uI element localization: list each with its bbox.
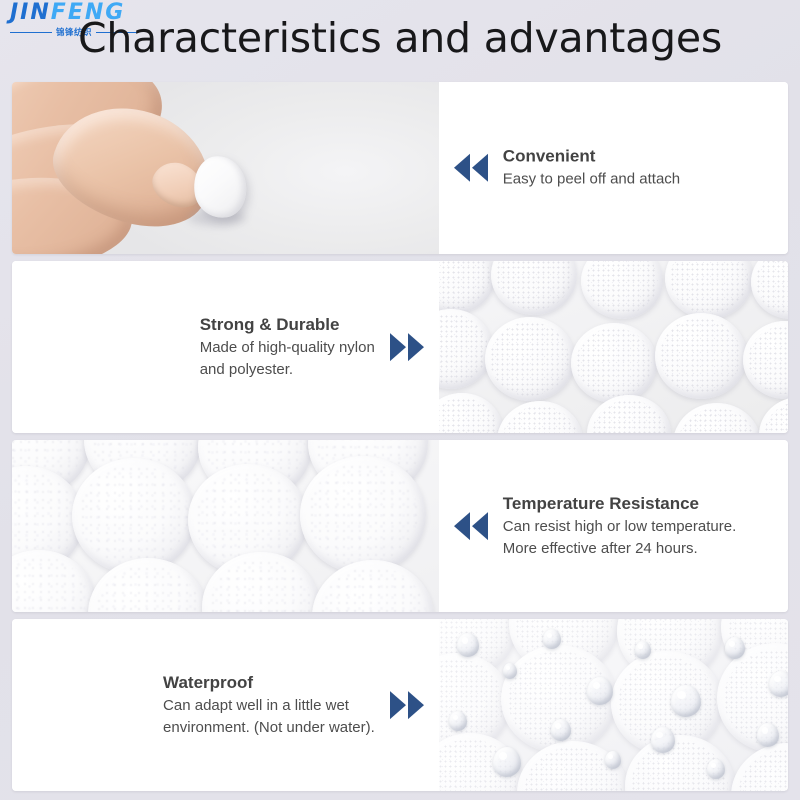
velcro-dot	[300, 456, 426, 574]
feature-image-waterproof	[439, 619, 788, 791]
feature-text-convenient: Convenient Easy to peel off and attach	[439, 82, 788, 254]
water-droplet	[587, 677, 613, 705]
feature-title: Strong & Durable	[200, 314, 375, 335]
double-chevron-right-icon	[389, 332, 425, 362]
water-droplet	[725, 637, 745, 659]
velcro-dot	[655, 313, 747, 399]
feature-description-line: Easy to peel off and attach	[503, 169, 680, 190]
feature-row-waterproof: Waterproof Can adapt well in a little we…	[12, 619, 788, 791]
water-droplet	[503, 663, 517, 679]
water-droplet	[543, 629, 561, 649]
feature-copy: Strong & Durable Made of high-quality ny…	[200, 314, 375, 380]
velcro-dot	[72, 458, 196, 574]
hand-peeling-velcro-dot-photo	[12, 82, 439, 254]
velcro-hook-dots-texture-photo	[439, 261, 788, 433]
feature-list: Convenient Easy to peel off and attach S…	[12, 82, 788, 798]
double-chevron-left-icon	[453, 153, 489, 183]
page-title: Characteristics and advantages	[0, 16, 800, 61]
water-droplet	[671, 685, 701, 717]
water-droplet	[551, 719, 571, 741]
feature-copy: Convenient Easy to peel off and attach	[503, 146, 680, 191]
feature-text-temperature-resistance: Temperature Resistance Can resist high o…	[439, 440, 788, 612]
feature-description-line: More effective after 24 hours.	[503, 538, 736, 559]
feature-description-line: Can resist high or low temperature.	[503, 516, 736, 537]
water-droplet	[449, 711, 467, 731]
feature-description-line: and polyester.	[200, 359, 375, 380]
feature-image-temperature-resistance	[12, 440, 439, 612]
feature-copy: Temperature Resistance Can resist high o…	[503, 493, 736, 559]
feature-description-line: Made of high-quality nylon	[200, 337, 375, 358]
velcro-loop-dots-texture-photo	[12, 440, 439, 612]
feature-row-temperature-resistance: Temperature Resistance Can resist high o…	[12, 440, 788, 612]
feature-text-strong-durable: Strong & Durable Made of high-quality ny…	[12, 261, 439, 433]
feature-row-strong-durable: Strong & Durable Made of high-quality ny…	[12, 261, 788, 433]
water-droplet	[605, 751, 621, 769]
feature-image-convenient	[12, 82, 439, 254]
feature-title: Temperature Resistance	[503, 493, 736, 514]
double-chevron-left-icon	[453, 511, 489, 541]
feature-image-strong-durable	[439, 261, 788, 433]
water-droplet	[493, 747, 521, 777]
feature-description-line: environment. (Not under water).	[163, 717, 375, 738]
water-droplet	[635, 641, 651, 659]
water-droplet	[707, 759, 725, 779]
velcro-dot	[571, 323, 657, 403]
double-chevron-right-icon	[389, 690, 425, 720]
water-droplets-on-velcro-dots-photo	[439, 619, 788, 791]
water-droplet	[457, 633, 479, 657]
water-droplet	[769, 671, 788, 697]
water-droplet	[757, 723, 779, 747]
feature-title: Waterproof	[163, 672, 375, 693]
feature-title: Convenient	[503, 146, 680, 167]
feature-copy: Waterproof Can adapt well in a little we…	[163, 672, 375, 738]
water-droplet	[651, 727, 675, 753]
feature-description-line: Can adapt well in a little wet	[163, 695, 375, 716]
feature-row-convenient: Convenient Easy to peel off and attach	[12, 82, 788, 254]
velcro-dot	[485, 317, 575, 401]
feature-text-waterproof: Waterproof Can adapt well in a little we…	[12, 619, 439, 791]
